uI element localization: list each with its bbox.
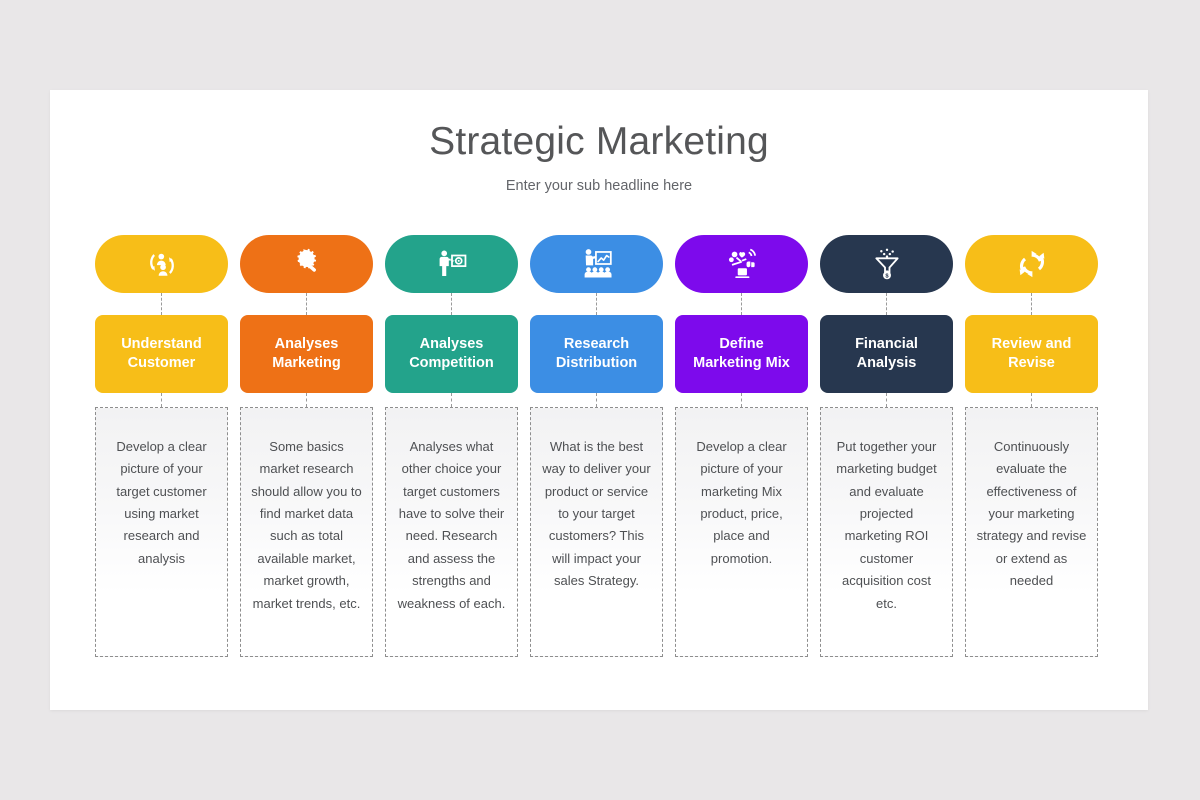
step-description-2: Some basics market research should allow… [240,407,373,657]
connector-line-bottom-7 [1031,393,1032,407]
presenter-board-icon [435,247,469,281]
connector-line-top-5 [741,293,742,315]
step-icon-pill-5[interactable] [675,235,808,293]
step-icon-pill-7[interactable] [965,235,1098,293]
step-description-3: Analyses what other choice your target c… [385,407,518,657]
step-description-1: Develop a clear picture of your target c… [95,407,228,657]
connector-line-bottom-5 [741,393,742,407]
step-label-3[interactable]: Analyses Competition [385,315,518,393]
step-icon-pill-2[interactable] [240,235,373,293]
step-label-6[interactable]: Financial Analysis [820,315,953,393]
step-label-4[interactable]: Research Distribution [530,315,663,393]
process-step-2: Analyses MarketingSome basics market res… [240,235,373,657]
connector-line-bottom-1 [161,393,162,407]
connector-line-bottom-4 [596,393,597,407]
funnel-money-icon: $ [870,247,904,281]
process-step-6: $ Financial AnalysisPut together your ma… [820,235,953,657]
page-subtitle: Enter your sub headline here [50,178,1148,194]
process-step-4: Research DistributionWhat is the best wa… [530,235,663,657]
page-title: Strategic Marketing [50,120,1148,164]
connector-line-bottom-6 [886,393,887,407]
connector-line-top-1 [161,293,162,315]
connector-line-bottom-2 [306,393,307,407]
step-description-7: Continuously evaluate the effectiveness … [965,407,1098,657]
people-cycle-icon [145,247,179,281]
step-label-5[interactable]: Define Marketing Mix [675,315,808,393]
connector-line-top-2 [306,293,307,315]
slide-canvas: Strategic Marketing Enter your sub headl… [50,90,1148,710]
process-steps-row: Understand CustomerDevelop a clear pictu… [95,235,1105,657]
step-description-6: Put together your marketing budget and e… [820,407,953,657]
connector-line-top-3 [451,293,452,315]
step-label-1[interactable]: Understand Customer [95,315,228,393]
step-description-4: What is the best way to deliver your pro… [530,407,663,657]
presentation-audience-icon [580,247,614,281]
step-label-7[interactable]: Review and Revise [965,315,1098,393]
step-icon-pill-6[interactable]: $ [820,235,953,293]
step-icon-pill-4[interactable] [530,235,663,293]
process-step-5: Define Marketing MixDevelop a clear pict… [675,235,808,657]
connector-line-top-7 [1031,293,1032,315]
refresh-cycle-icon [1014,246,1050,282]
connector-line-bottom-3 [451,393,452,407]
step-description-5: Develop a clear picture of your marketin… [675,407,808,657]
marketing-burst-icon [725,247,759,281]
process-step-3: Analyses CompetitionAnalyses what other … [385,235,518,657]
step-label-2[interactable]: Analyses Marketing [240,315,373,393]
process-step-1: Understand CustomerDevelop a clear pictu… [95,235,228,657]
connector-line-top-4 [596,293,597,315]
step-icon-pill-3[interactable] [385,235,518,293]
gear-magnifier-icon [290,247,324,281]
connector-line-top-6 [886,293,887,315]
step-icon-pill-1[interactable] [95,235,228,293]
process-step-7: Review and ReviseContinuously evaluate t… [965,235,1098,657]
